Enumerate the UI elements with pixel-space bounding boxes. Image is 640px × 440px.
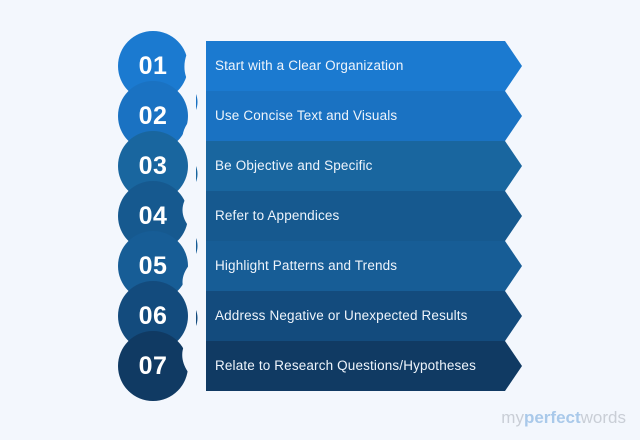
step-arrow-band bbox=[0, 341, 640, 391]
brand-perfect: perfect bbox=[524, 408, 581, 427]
step-arrow-band bbox=[0, 191, 640, 241]
step-arrow-band bbox=[0, 91, 640, 141]
step-row[interactable]: Be Objective and Specific bbox=[0, 141, 640, 191]
step-arrow-shape bbox=[196, 191, 522, 241]
infographic-canvas: Start with a Clear OrganizationUse Conci… bbox=[0, 0, 640, 440]
step-row[interactable]: Use Concise Text and Visuals bbox=[0, 91, 640, 141]
step-number: 02 bbox=[139, 104, 168, 129]
step-number: 05 bbox=[139, 254, 168, 279]
step-arrow-shape bbox=[196, 291, 522, 341]
step-arrow-shape bbox=[196, 141, 522, 191]
brand-words: words bbox=[581, 408, 626, 427]
step-arrow-shape bbox=[196, 41, 522, 91]
step-row[interactable]: Start with a Clear Organization bbox=[0, 41, 640, 91]
step-arrow-shape bbox=[196, 341, 522, 391]
step-arrow-band bbox=[0, 41, 640, 91]
brand-my: my bbox=[501, 408, 524, 427]
step-number: 04 bbox=[139, 204, 168, 229]
scallop-divider bbox=[182, 28, 206, 408]
step-row[interactable]: Highlight Patterns and Trends bbox=[0, 241, 640, 291]
step-number: 07 bbox=[139, 354, 168, 379]
step-row[interactable]: Address Negative or Unexpected Results bbox=[0, 291, 640, 341]
step-number: 03 bbox=[139, 154, 168, 179]
step-arrow-shape bbox=[196, 241, 522, 291]
step-arrow-band bbox=[0, 141, 640, 191]
step-arrow-band bbox=[0, 241, 640, 291]
step-number: 06 bbox=[139, 304, 168, 329]
brand-logo: myperfectwords bbox=[501, 409, 626, 426]
step-row[interactable]: Refer to Appendices bbox=[0, 191, 640, 241]
step-row[interactable]: Relate to Research Questions/Hypotheses bbox=[0, 341, 640, 391]
step-arrow-shape bbox=[196, 91, 522, 141]
step-number: 01 bbox=[139, 54, 168, 79]
step-number-circle[interactable]: 07 bbox=[118, 331, 188, 401]
steps-layer: Start with a Clear OrganizationUse Conci… bbox=[0, 0, 640, 440]
step-arrow-band bbox=[0, 291, 640, 341]
